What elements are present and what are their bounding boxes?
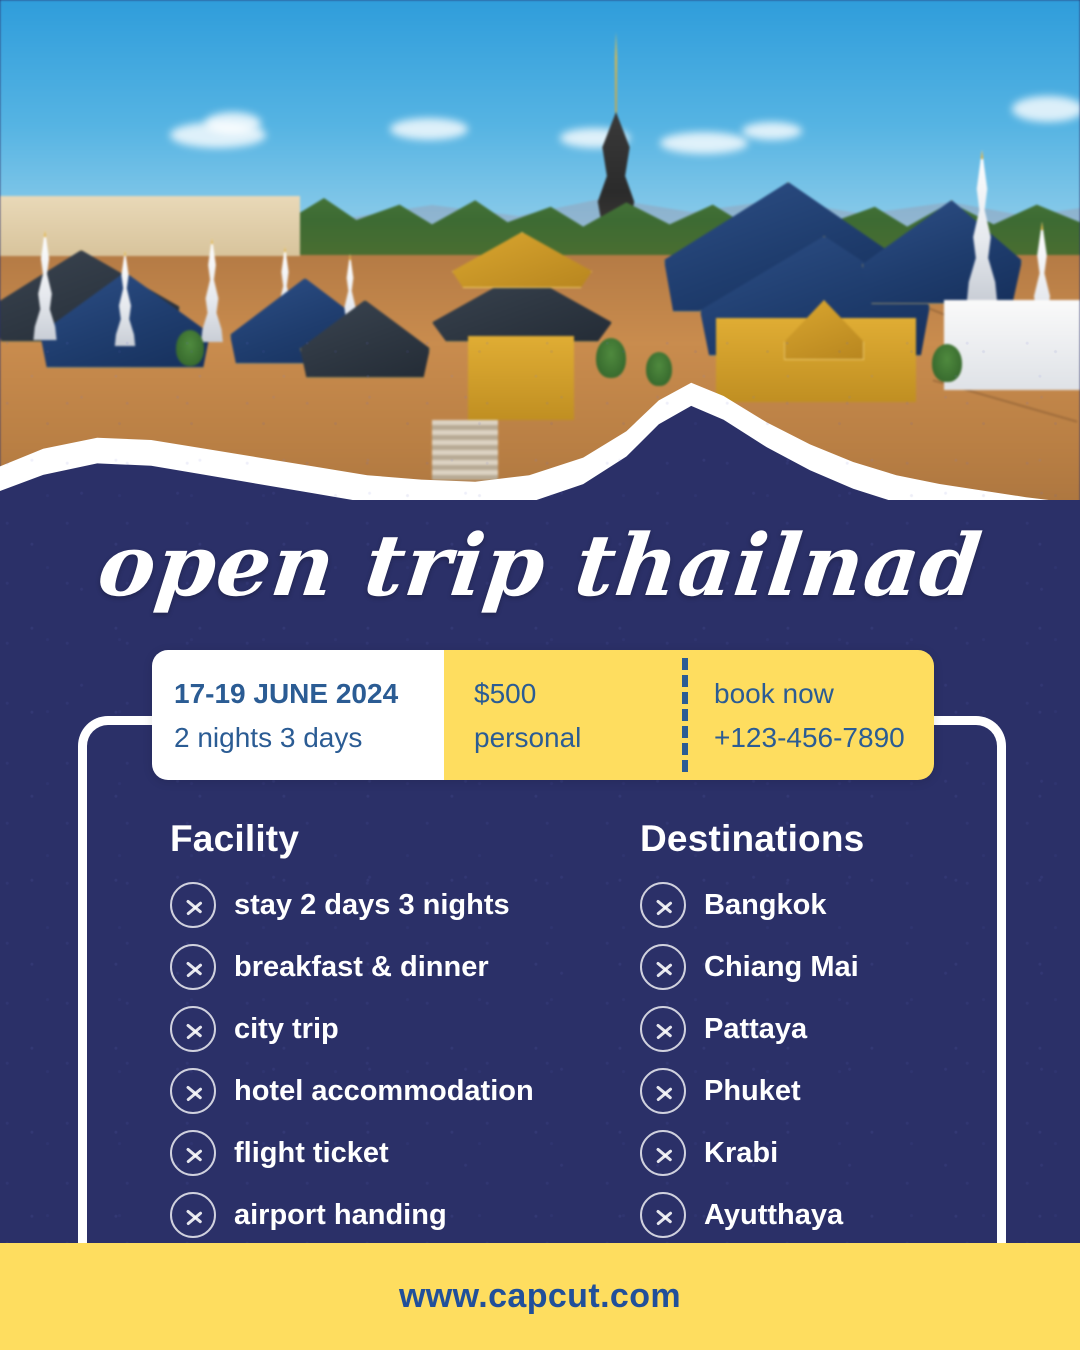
destination-item-label: Phuket <box>704 1075 801 1108</box>
trip-duration: 2 nights 3 days <box>174 716 444 760</box>
tree <box>932 344 962 382</box>
destinations-column: Destinations Bangkok Chiang Mai Pattaya … <box>640 818 1000 1246</box>
booking-column: book now +123-456-7890 <box>684 650 905 780</box>
facility-item-label: stay 2 days 3 nights <box>234 889 510 922</box>
details-columns: Facility stay 2 days 3 nights breakfast … <box>0 818 1080 1246</box>
tree <box>646 352 672 386</box>
cloud <box>1012 96 1080 122</box>
facility-item-label: airport handing <box>234 1199 447 1232</box>
facility-item-label: city trip <box>234 1013 339 1046</box>
facility-item-label: flight ticket <box>234 1137 389 1170</box>
page-title: open trip thailnad <box>0 516 1080 616</box>
destination-item-label: Krabi <box>704 1137 778 1170</box>
trip-info-card: 17-19 JUNE 2024 2 nights 3 days $500 per… <box>152 650 934 780</box>
chevron-right-icon <box>640 1006 686 1052</box>
list-item: breakfast & dinner <box>170 936 640 998</box>
list-item: Bangkok <box>640 874 1000 936</box>
list-item: city trip <box>170 998 640 1060</box>
trip-date: 17-19 JUNE 2024 <box>174 672 444 716</box>
chevron-right-icon <box>170 1130 216 1176</box>
destination-item-label: Bangkok <box>704 889 826 922</box>
facility-heading: Facility <box>170 818 640 860</box>
cloud <box>742 122 802 140</box>
list-item: Krabi <box>640 1122 1000 1184</box>
chevron-right-icon <box>640 1192 686 1238</box>
list-item: hotel accommodation <box>170 1060 640 1122</box>
book-now-label[interactable]: book now <box>714 672 905 716</box>
list-item: flight ticket <box>170 1122 640 1184</box>
travel-poster: open trip thailnad 17-19 JUNE 2024 2 nig… <box>0 0 1080 1350</box>
tree <box>596 338 626 378</box>
destination-item-label: Chiang Mai <box>704 951 859 984</box>
destination-item-label: Ayutthaya <box>704 1199 843 1232</box>
chevron-right-icon <box>170 882 216 928</box>
chevron-right-icon <box>170 944 216 990</box>
list-item: Chiang Mai <box>640 936 1000 998</box>
chevron-right-icon <box>640 944 686 990</box>
list-item: airport handing <box>170 1184 640 1246</box>
facility-item-label: hotel accommodation <box>234 1075 534 1108</box>
cloud <box>660 132 748 154</box>
facility-item-label: breakfast & dinner <box>234 951 489 984</box>
list-item: Pattaya <box>640 998 1000 1060</box>
trip-price-type: personal <box>474 716 684 760</box>
list-item: Phuket <box>640 1060 1000 1122</box>
price-booking-panel: $500 personal book now +123-456-7890 <box>444 650 934 780</box>
cloud <box>205 112 261 134</box>
price-column: $500 personal <box>444 650 684 780</box>
booking-phone[interactable]: +123-456-7890 <box>714 716 905 760</box>
tree <box>176 330 204 366</box>
destinations-heading: Destinations <box>640 818 1000 860</box>
date-panel: 17-19 JUNE 2024 2 nights 3 days <box>152 650 444 780</box>
footer-bar: www.capcut.com <box>0 1243 1080 1350</box>
chevron-right-icon <box>170 1192 216 1238</box>
temple-wall <box>944 300 1080 390</box>
trip-price: $500 <box>474 672 684 716</box>
chevron-right-icon <box>640 1068 686 1114</box>
chevron-right-icon <box>170 1068 216 1114</box>
dashed-divider <box>682 658 688 772</box>
chevron-right-icon <box>640 882 686 928</box>
website-url[interactable]: www.capcut.com <box>399 1277 681 1316</box>
facility-column: Facility stay 2 days 3 nights breakfast … <box>170 818 640 1246</box>
cloud <box>390 118 468 140</box>
list-item: stay 2 days 3 nights <box>170 874 640 936</box>
stairway <box>432 420 498 480</box>
destination-item-label: Pattaya <box>704 1013 807 1046</box>
chevron-right-icon <box>640 1130 686 1176</box>
pavilion-wall <box>468 336 574 420</box>
list-item: Ayutthaya <box>640 1184 1000 1246</box>
chevron-right-icon <box>170 1006 216 1052</box>
